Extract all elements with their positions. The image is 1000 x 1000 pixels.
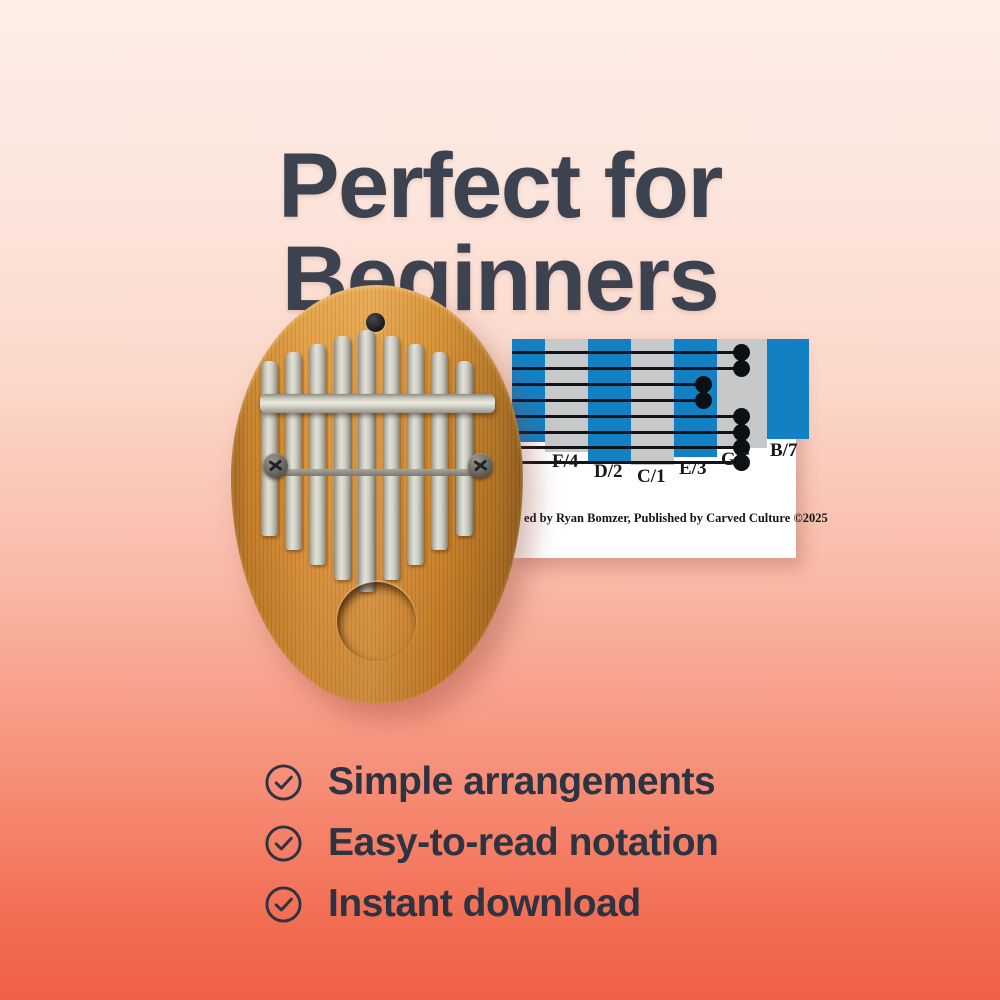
- check-circle-icon: [264, 763, 303, 802]
- notation-column-stripe: [767, 339, 809, 439]
- promo-poster: Perfect for Beginners F/4D/2C/1E/3G/5B/7…: [0, 0, 1000, 1000]
- notation-note-label: G/5: [721, 449, 751, 471]
- feature-label: Instant download: [328, 882, 641, 926]
- kalimba-tine: [309, 344, 326, 565]
- notation-note-dot: [733, 344, 750, 361]
- feature-list-item: Instant download: [264, 874, 824, 934]
- notation-staff-line: [512, 446, 740, 449]
- kalimba-tine: [261, 361, 278, 536]
- kalimba-rest-bar: [278, 469, 478, 476]
- kalimba-tine: [456, 361, 473, 536]
- notation-note-label: E/3: [679, 458, 706, 480]
- notation-staff-line: [512, 383, 702, 386]
- notation-note-label: B/7: [770, 440, 797, 462]
- kalimba-sound-hole: [337, 582, 416, 661]
- feature-label: Easy-to-read notation: [328, 821, 718, 865]
- notation-note-label: D/2: [594, 461, 623, 483]
- headline-line-1: Perfect for: [0, 140, 1000, 234]
- check-circle-icon: [264, 824, 303, 863]
- kalimba-tine: [285, 352, 302, 550]
- kalimba-tine: [431, 352, 448, 550]
- notation-note-dot: [733, 360, 750, 377]
- kalimba-tine: [383, 336, 400, 580]
- notation-note-label: C/1: [637, 466, 666, 488]
- kalimba-screw-left: [263, 453, 288, 478]
- check-circle-icon: [264, 885, 303, 924]
- notation-note-dot: [695, 392, 712, 409]
- notation-staff-line: [512, 351, 740, 354]
- notation-note-dot: [733, 408, 750, 425]
- notation-grid: [512, 339, 796, 467]
- notation-staff-line: [512, 399, 702, 402]
- notation-column-stripe: [545, 339, 588, 452]
- kalimba-tine: [334, 336, 351, 580]
- notation-note-label: F/4: [552, 451, 578, 473]
- kalimba-tine: [407, 344, 424, 565]
- notation-credits: ed by Ryan Bomzer, Published by Carved C…: [524, 511, 828, 526]
- notation-card: F/4D/2C/1E/3G/5B/7 ed by Ryan Bomzer, Pu…: [512, 339, 796, 558]
- notation-staff-line: [512, 415, 740, 418]
- notation-note-dot: [695, 376, 712, 393]
- notation-staff-line: [512, 367, 740, 370]
- feature-list-item: Easy-to-read notation: [264, 813, 824, 873]
- kalimba-tine: [358, 330, 375, 592]
- feature-label: Simple arrangements: [328, 760, 715, 804]
- kalimba-screw-right: [468, 453, 493, 478]
- kalimba-illustration: [231, 285, 523, 703]
- notation-staff-line: [512, 431, 740, 434]
- kalimba-bridge-bar: [260, 394, 495, 413]
- feature-list: Simple arrangementsEasy-to-read notation…: [264, 752, 824, 935]
- feature-list-item: Simple arrangements: [264, 752, 824, 812]
